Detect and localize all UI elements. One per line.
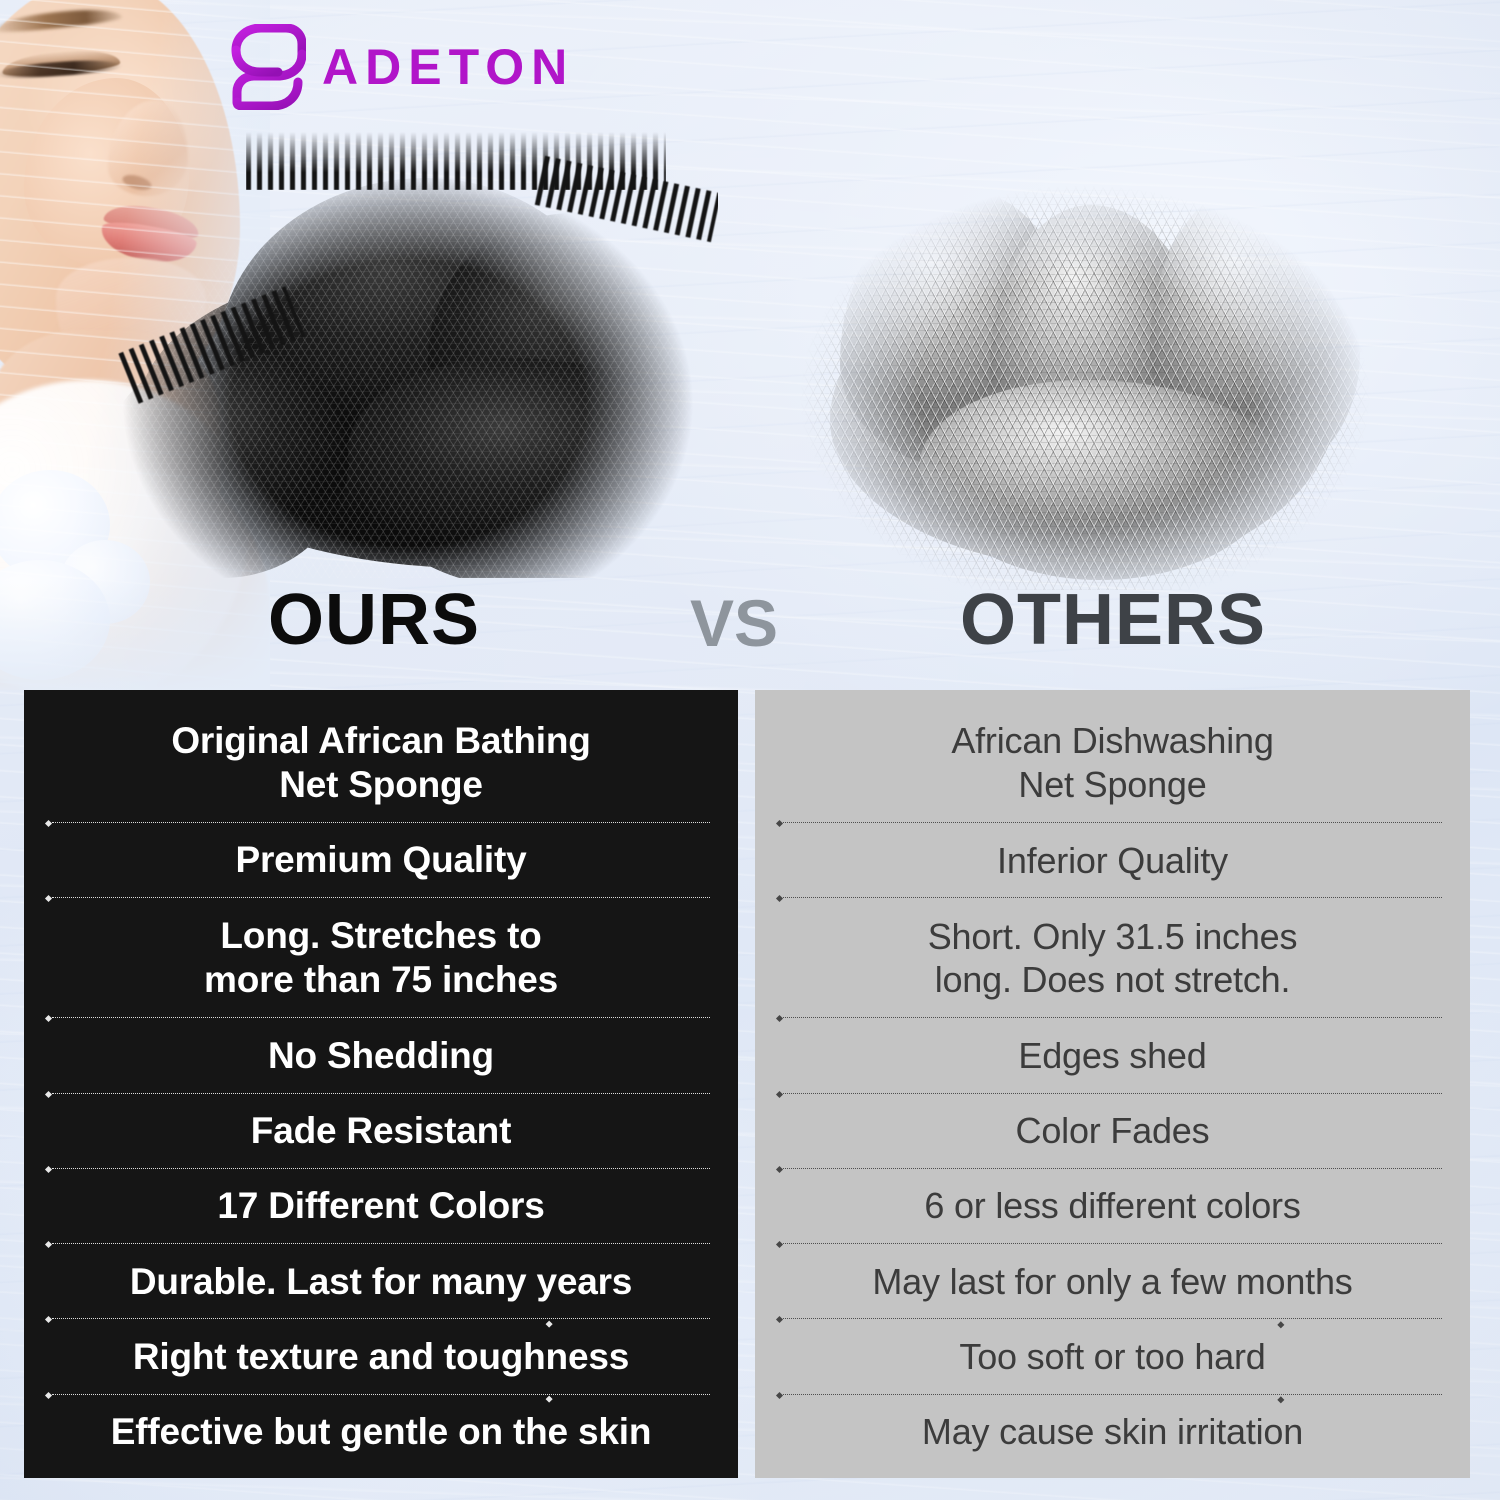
others-row-divider (777, 1016, 1448, 1019)
ours-row: Premium Quality (44, 824, 718, 896)
ours-row-label: No Shedding (268, 1034, 494, 1078)
ours-product-image (98, 118, 718, 578)
ours-row-divider (46, 1242, 716, 1245)
ours-row-label: Right texture and toughness (133, 1335, 629, 1379)
brand-logo[interactable]: ADETON (228, 24, 574, 110)
ours-row-divider (46, 1016, 716, 1019)
ours-feature-panel: Original African BathingNet SpongePremiu… (24, 690, 738, 1478)
others-row-label: Short. Only 31.5 incheslong. Does not st… (928, 915, 1298, 1001)
ours-row-label: 17 Different Colors (217, 1184, 544, 1228)
others-row-divider (777, 1167, 1448, 1170)
others-row-divider (777, 896, 1448, 899)
others-row: African DishwashingNet Sponge (775, 704, 1450, 821)
ours-row-label: Original African BathingNet Sponge (171, 719, 590, 806)
comparison-table: Original African BathingNet SpongePremiu… (0, 690, 1500, 1480)
grey-sponge-body (800, 150, 1370, 590)
ours-row-divider (46, 821, 716, 824)
ours-row-label: Fade Resistant (251, 1109, 511, 1153)
others-row: Too soft or too hard (775, 1320, 1450, 1392)
others-row-divider (777, 1242, 1448, 1245)
others-row-divider (777, 1092, 1448, 1095)
others-row: May cause skin irritation (775, 1396, 1450, 1468)
ours-row: Fade Resistant (44, 1095, 718, 1167)
others-row-divider (777, 821, 1448, 824)
others-row-label: Color Fades (1016, 1109, 1210, 1152)
others-row-label: Too soft or too hard (959, 1335, 1265, 1378)
others-row: 6 or less different colors (775, 1170, 1450, 1242)
ours-row: Original African BathingNet Sponge (44, 704, 718, 821)
ours-row: No Shedding (44, 1019, 718, 1091)
heading-ours: OURS (268, 584, 480, 656)
ours-row-divider (46, 1167, 716, 1170)
ours-row-divider (46, 1092, 716, 1095)
ours-row-label: Premium Quality (235, 838, 526, 882)
others-row-label: African DishwashingNet Sponge (951, 719, 1273, 805)
ours-row-divider (46, 1317, 716, 1320)
ours-row-label: Effective but gentle on the skin (111, 1410, 651, 1454)
others-row: May last for only a few months (775, 1245, 1450, 1317)
others-row-label: 6 or less different colors (924, 1184, 1300, 1227)
ours-row-divider (46, 896, 716, 899)
others-row-divider (777, 1317, 1448, 1320)
ours-row: Long. Stretches tomore than 75 inches (44, 899, 718, 1016)
adeton-leaf-mark-icon (228, 24, 306, 110)
comparison-headings: OURS VS OTHERS (0, 584, 1500, 680)
others-row: Inferior Quality (775, 824, 1450, 896)
ours-row-label: Long. Stretches tomore than 75 inches (204, 914, 558, 1001)
ours-row: Right texture and toughness (44, 1320, 718, 1392)
heading-others: OTHERS (960, 584, 1266, 656)
grey-mesh-texture (800, 150, 1370, 590)
others-row-label: May cause skin irritation (922, 1410, 1303, 1453)
others-row: Color Fades (775, 1095, 1450, 1167)
heading-vs: VS (690, 590, 778, 656)
ours-row-divider (46, 1393, 716, 1396)
others-row-label: Inferior Quality (997, 839, 1228, 882)
ours-row: 17 Different Colors (44, 1170, 718, 1242)
others-row-label: Edges shed (1018, 1034, 1206, 1077)
others-row: Edges shed (775, 1019, 1450, 1091)
ours-row: Effective but gentle on the skin (44, 1396, 718, 1468)
others-feature-panel: African DishwashingNet SpongeInferior Qu… (755, 690, 1470, 1478)
others-row-label: May last for only a few months (872, 1260, 1352, 1303)
brand-name: ADETON (322, 42, 574, 92)
others-row: Short. Only 31.5 incheslong. Does not st… (775, 899, 1450, 1016)
others-row-divider (777, 1393, 1448, 1396)
ours-row: Durable. Last for many years (44, 1245, 718, 1317)
others-product-image (800, 150, 1370, 590)
ours-row-label: Durable. Last for many years (130, 1260, 632, 1304)
product-comparison-infographic: ADETON OURS VS OTHERS Original African B… (0, 0, 1500, 1500)
